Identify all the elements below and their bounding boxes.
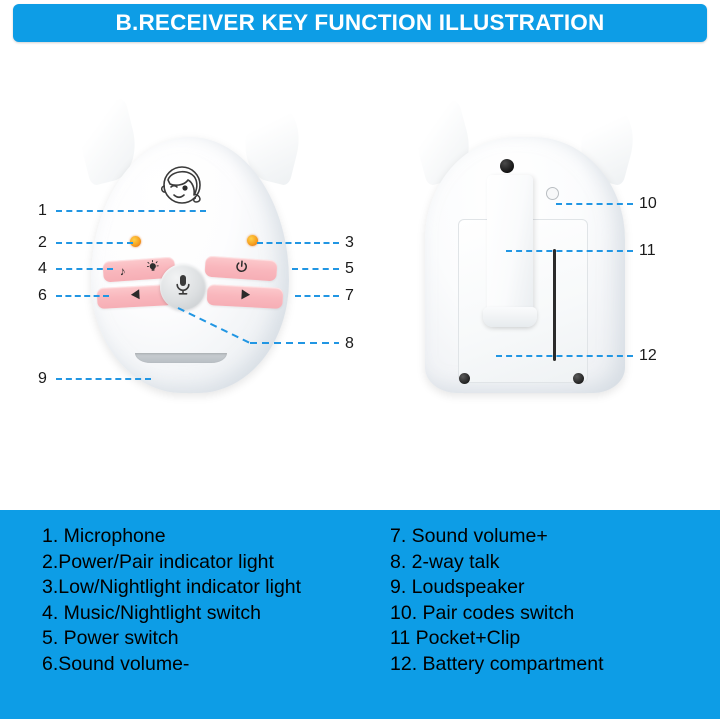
- leader-line-8: [0, 46, 360, 386]
- battery-door-seam: [553, 249, 556, 361]
- callout-number-8: 8: [345, 336, 354, 352]
- illustration-area: ♪: [0, 46, 720, 510]
- leader-line-11: [506, 250, 633, 252]
- legend-item: 3.Low/Nightlight indicator light: [42, 575, 390, 601]
- legend-item: 12. Battery compartment: [390, 652, 720, 678]
- pair-codes-switch[interactable]: [546, 187, 559, 200]
- callout-number-12: 12: [639, 348, 657, 364]
- sensor-dot-icon: [500, 159, 514, 173]
- legend-item: 5. Power switch: [42, 626, 390, 652]
- legend-item: 9. Loudspeaker: [390, 575, 720, 601]
- screw-icon-left: [459, 373, 470, 384]
- legend-columns: 1. Microphone 2.Power/Pair indicator lig…: [0, 524, 720, 677]
- legend-item: 10. Pair codes switch: [390, 601, 720, 627]
- legend-item: 8. 2-way talk: [390, 550, 720, 576]
- legend-item: 6.Sound volume-: [42, 652, 390, 678]
- header-banner: B.RECEIVER KEY FUNCTION ILLUSTRATION: [13, 4, 707, 42]
- callout-number-2: 2: [38, 235, 47, 251]
- legend-item: 7. Sound volume+: [390, 524, 720, 550]
- legend-item: 11 Pocket+Clip: [390, 626, 720, 652]
- legend-panel: 1. Microphone 2.Power/Pair indicator lig…: [0, 510, 720, 719]
- leader-line-12: [496, 355, 633, 357]
- screw-icon-right: [573, 373, 584, 384]
- callout-number-3: 3: [345, 235, 354, 251]
- callout-number-7: 7: [345, 288, 354, 304]
- callout-number-11: 11: [639, 243, 656, 259]
- callout-number-9: 9: [38, 371, 47, 387]
- legend-column-left: 1. Microphone 2.Power/Pair indicator lig…: [0, 524, 390, 677]
- pocket-clip-tip: [483, 307, 537, 327]
- legend-item: 2.Power/Pair indicator light: [42, 550, 390, 576]
- callout-number-1: 1: [38, 203, 47, 219]
- page-title: B.RECEIVER KEY FUNCTION ILLUSTRATION: [116, 10, 605, 36]
- leader-line-10: [556, 203, 633, 205]
- legend-item: 1. Microphone: [42, 524, 390, 550]
- legend-item: 4. Music/Nightlight switch: [42, 601, 390, 627]
- callout-number-10: 10: [639, 196, 657, 212]
- legend-column-right: 7. Sound volume+ 8. 2-way talk 9. Loudsp…: [390, 524, 720, 677]
- callout-number-4: 4: [38, 261, 47, 277]
- callout-number-5: 5: [345, 261, 354, 277]
- callout-number-6: 6: [38, 288, 47, 304]
